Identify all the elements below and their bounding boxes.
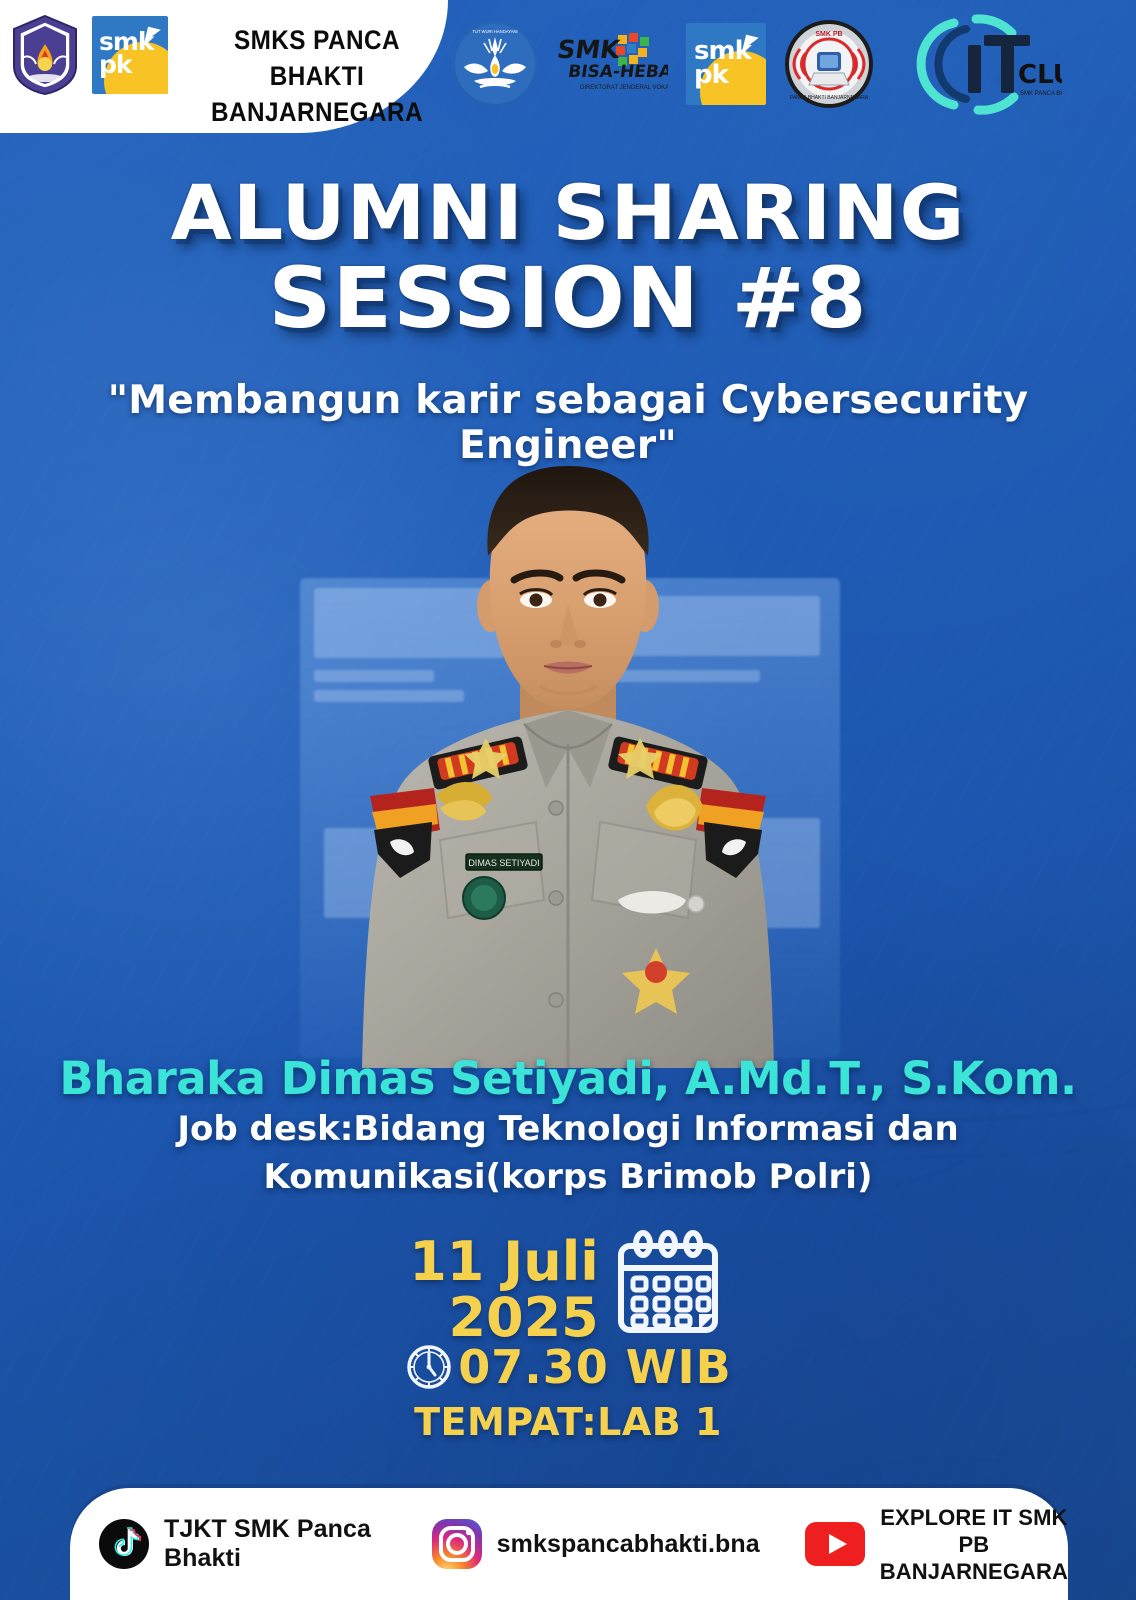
smk-pk-logo-2: smkpk xyxy=(686,23,766,105)
speaker-role-line1: Job desk:Bidang Teknologi Informasi dan xyxy=(0,1105,1136,1153)
smk-pb-emblem-logo: SMK PB PANCA BHAKTI BANJARNEGARA xyxy=(784,19,874,109)
social-youtube-label: EXPLORE IT SMK PB BANJARNEGARA xyxy=(880,1504,1068,1585)
school-name-line1: SMKS PANCA BHAKTI xyxy=(205,22,430,94)
main-title-block: ALUMNI SHARING SESSION #8 xyxy=(0,176,1136,340)
event-date-text: 11 Juli 2025 xyxy=(409,1228,599,1346)
school-name-line2: BANJARNEGARA xyxy=(205,94,430,130)
school-seal-logo xyxy=(8,14,82,96)
speaker-name: Bharaka Dimas Setiyadi, A.Md.T., S.Kom. xyxy=(0,1052,1136,1105)
event-time: 07.30 WIB xyxy=(458,1340,731,1394)
svg-text:PANCA BHAKTI BANJARNEGARA: PANCA BHAKTI BANJARNEGARA xyxy=(790,95,869,101)
smk-pk-2-line2: pk xyxy=(694,60,728,90)
youtube-icon[interactable] xyxy=(804,1521,866,1567)
event-details-block: 11 Juli 2025 xyxy=(0,1228,1136,1444)
smk-bisa-hebat-logo: SMK BISA-HEBAT DIREKTORAT JENDERAL VOKAS… xyxy=(556,31,668,97)
instagram-icon[interactable] xyxy=(431,1518,483,1570)
event-date-year: 2025 xyxy=(409,1290,599,1346)
social-instagram-label: smkspancabhakti.bna xyxy=(497,1530,760,1559)
speaker-role-line2: Komunikasi(korps Brimob Polri) xyxy=(0,1153,1136,1201)
header-right-logo-group: TUT WURI HANDAYANI SMK BISA-HEBAT DIREKT… xyxy=(452,8,1062,120)
title-line-2: SESSION #8 xyxy=(0,256,1136,340)
social-tiktok[interactable]: TJKT SMK Panca Bhakti xyxy=(98,1515,387,1573)
smk-pk-line2: pk xyxy=(99,50,132,79)
svg-text:BISA-HEBAT: BISA-HEBAT xyxy=(567,62,668,82)
svg-text:DIREKTORAT JENDERAL VOKASI: DIREKTORAT JENDERAL VOKASI xyxy=(580,85,668,91)
tut-wuri-handayani-logo: TUT WURI HANDAYANI xyxy=(452,21,538,107)
event-date-row: 11 Juli 2025 xyxy=(0,1228,1136,1346)
speaker-role: Job desk:Bidang Teknologi Informasi dan … xyxy=(0,1105,1136,1201)
social-instagram[interactable]: smkspancabhakti.bna xyxy=(431,1518,760,1570)
event-date-day: 11 Juli xyxy=(409,1234,599,1290)
smk-pk-2-flag-icon xyxy=(742,35,758,54)
svg-text:SMK: SMK xyxy=(556,35,623,64)
svg-text:CLUB: CLUB xyxy=(1018,60,1062,90)
footer-social-row: TJKT SMK Panca Bhakti xyxy=(70,1488,1068,1600)
social-youtube[interactable]: EXPLORE IT SMK PB BANJARNEGARA xyxy=(804,1504,1068,1585)
svg-text:DIMAS SETIYADI: DIMAS SETIYADI xyxy=(468,858,539,868)
smk-pk-logo: smkpk xyxy=(92,16,168,94)
svg-text:TUT WURI HANDAYANI: TUT WURI HANDAYANI xyxy=(472,29,517,34)
speaker-photo: DIMAS SETIYADI xyxy=(288,448,848,1068)
header-left-logo-group: smkpk xyxy=(8,14,168,96)
footer-panel: TJKT SMK Panca Bhakti xyxy=(70,1488,1068,1600)
smk-pk-flag-icon xyxy=(144,27,160,46)
clock-icon xyxy=(404,1342,454,1392)
social-tiktok-label: TJKT SMK Panca Bhakti xyxy=(164,1515,387,1573)
header-band: smkpk SMKS PANCA BHAKTI BANJARNEGARA xyxy=(0,0,1136,134)
title-line-1: ALUMNI SHARING xyxy=(0,176,1136,250)
svg-text:SMK PB: SMK PB xyxy=(815,31,842,38)
svg-text:SMK PANCA BHAKTI: SMK PANCA BHAKTI xyxy=(1020,91,1062,97)
calendar-icon xyxy=(605,1230,727,1342)
event-place: TEMPAT:LAB 1 xyxy=(0,1400,1136,1444)
it-club-logo: CLUB SMK PANCA BHAKTI xyxy=(892,11,1062,117)
social-youtube-label-line2: BANJARNEGARA xyxy=(880,1559,1068,1584)
speaker-portrait-image: DIMAS SETIYADI xyxy=(288,448,848,1068)
social-youtube-label-line1: EXPLORE IT SMK PB xyxy=(880,1505,1067,1557)
tiktok-icon[interactable] xyxy=(98,1518,150,1570)
event-time-row: 07.30 WIB xyxy=(0,1340,1136,1394)
school-name-block: SMKS PANCA BHAKTI BANJARNEGARA xyxy=(205,22,430,130)
poster-root: smkpk SMKS PANCA BHAKTI BANJARNEGARA xyxy=(0,0,1136,1600)
